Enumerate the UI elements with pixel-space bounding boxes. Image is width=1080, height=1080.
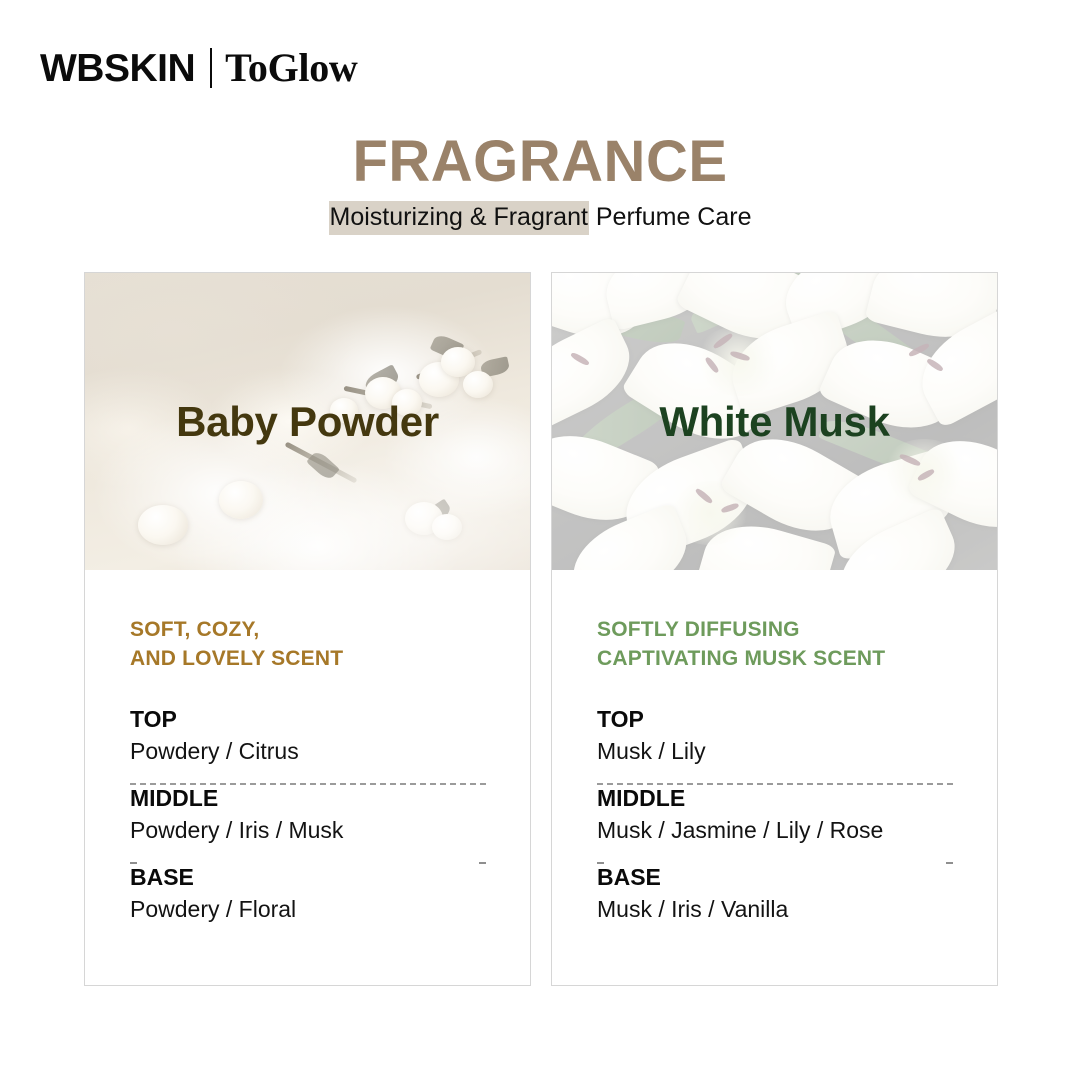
header-block: FRAGRANCE Moisturizing & Fragrant Perfum… — [0, 132, 1080, 233]
note-label-top: TOP — [597, 706, 953, 733]
card-body-white-musk: SOFTLY DIFFUSING CAPTIVATING MUSK SCENT … — [552, 570, 997, 985]
note-value-top: Musk / Lily — [597, 737, 953, 767]
brand-name-secondary: ToGlow — [225, 48, 357, 88]
card-title-white-musk: White Musk — [552, 401, 997, 443]
card-tagline-white-musk: SOFTLY DIFFUSING CAPTIVATING MUSK SCENT — [597, 616, 953, 674]
note-value-base: Musk / Iris / Vanilla — [597, 895, 953, 925]
subtitle-plain: Perfume Care — [589, 203, 752, 231]
fragrance-infographic: WBSKIN ToGlow FRAGRANCE Moisturizing & F… — [0, 0, 1080, 1080]
note-label-base: BASE — [597, 864, 953, 891]
note-label-top: TOP — [130, 706, 486, 733]
note-group-middle: MIDDLE Powdery / Iris / Musk — [130, 785, 486, 846]
page-subtitle: Moisturizing & Fragrant Perfume Care — [0, 202, 1080, 233]
note-group-top: TOP Musk / Lily — [597, 706, 953, 767]
brand-divider-icon — [210, 48, 212, 88]
note-group-top: TOP Powdery / Citrus — [130, 706, 486, 767]
note-label-middle: MIDDLE — [597, 785, 953, 812]
brand-name-primary: WBSKIN — [40, 49, 195, 88]
note-group-base: BASE Musk / Iris / Vanilla — [597, 864, 953, 925]
note-value-base: Powdery / Floral — [130, 895, 486, 925]
note-value-top: Powdery / Citrus — [130, 737, 486, 767]
fragrance-card-list: Baby Powder SOFT, COZY, AND LOVELY SCENT… — [84, 272, 998, 986]
brand-logo: WBSKIN ToGlow — [40, 44, 357, 92]
scent-notes-baby-powder: TOP Powdery / Citrus MIDDLE Powdery / Ir… — [130, 706, 486, 925]
note-group-middle: MIDDLE Musk / Jasmine / Lily / Rose — [597, 785, 953, 846]
note-group-base: BASE Powdery / Floral — [130, 864, 486, 925]
note-value-middle: Musk / Jasmine / Lily / Rose — [597, 816, 953, 846]
fragrance-card-baby-powder[interactable]: Baby Powder SOFT, COZY, AND LOVELY SCENT… — [84, 272, 531, 986]
note-value-middle: Powdery / Iris / Musk — [130, 816, 486, 846]
card-title-baby-powder: Baby Powder — [85, 401, 530, 443]
note-label-base: BASE — [130, 864, 486, 891]
page-title: FRAGRANCE — [0, 132, 1080, 193]
card-tagline-baby-powder: SOFT, COZY, AND LOVELY SCENT — [130, 616, 486, 674]
card-hero-image-cotton: Baby Powder — [85, 273, 530, 570]
card-body-baby-powder: SOFT, COZY, AND LOVELY SCENT TOP Powdery… — [85, 570, 530, 985]
note-label-middle: MIDDLE — [130, 785, 486, 812]
scent-notes-white-musk: TOP Musk / Lily MIDDLE Musk / Jasmine / … — [597, 706, 953, 925]
card-hero-image-lily: White Musk — [552, 273, 997, 570]
fragrance-card-white-musk[interactable]: White Musk SOFTLY DIFFUSING CAPTIVATING … — [551, 272, 998, 986]
subtitle-highlight: Moisturizing & Fragrant — [329, 201, 589, 235]
